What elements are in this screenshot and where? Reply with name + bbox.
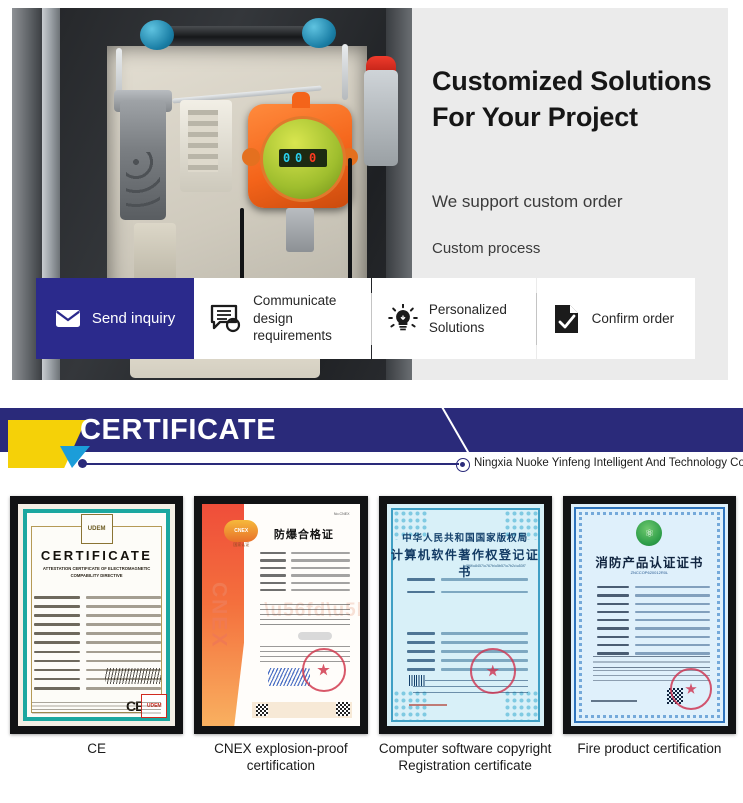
certificate-captions: CE CNEX explosion-proof certification Co… [10, 740, 736, 775]
cnex-qr-code [336, 702, 350, 716]
certificate-card-software[interactable]: 中华人民共和国国家版权局 计算机软件著作权登记证书 \u8f6f\u8457\u… [379, 496, 552, 734]
chat-document-icon [210, 304, 242, 334]
detector-faceplate: 0 0 0 [260, 116, 346, 202]
send-inquiry-button[interactable]: Send inquiry [36, 278, 194, 359]
cnex-footer-logo [256, 704, 268, 716]
ce-subheading: ATTESTATION CERTIFICATE OF ELECTROMAGNET… [34, 566, 159, 579]
ce-field-row [34, 623, 161, 626]
fire-field-row [597, 586, 710, 588]
certificate-card-fire[interactable]: ⚛ 消防产品认证证书 ZNCCOP620012R0L [563, 496, 736, 734]
fire-field-row [597, 611, 710, 613]
certificate-image-software: 中华人民共和国国家版权局 计算机软件著作权登记证书 \u8f6f\u8457\u… [387, 504, 544, 726]
caption-software: Computer software copyright Registration… [379, 740, 552, 775]
hero-subtitle: We support custom order [432, 192, 623, 212]
envelope-icon [55, 309, 81, 328]
ce-field-row [34, 687, 161, 690]
process-step-communicate[interactable]: Communicate design requirements [194, 278, 371, 359]
certificate-card-ce[interactable]: UDEM CERTIFICATE ATTESTATION CERTIFICATE… [10, 496, 183, 734]
cnex-field-rows [260, 552, 349, 596]
cnex-paragraph [260, 604, 349, 626]
fire-emblem-icon: ⚛ [636, 520, 662, 546]
ce-field-row [34, 651, 161, 654]
ce-field-row [34, 596, 161, 599]
software-field-row [407, 591, 528, 594]
cnex-field-row [260, 567, 349, 569]
corner-ornament-icon [504, 690, 538, 720]
ce-field-row [34, 605, 161, 608]
certificate-card-cnex[interactable]: CNEX CNEX 国家认证 No.CNEX 防爆合格证 \u56fd\u5bb… [194, 496, 367, 734]
software-field-row [407, 650, 528, 653]
ce-heading: CERTIFICATE [18, 548, 175, 563]
software-field-row [407, 578, 528, 581]
caption-ce: CE [10, 740, 183, 775]
process-step-confirm-label: Confirm order [592, 310, 675, 328]
udem-logo-icon: UDEM [81, 514, 113, 544]
document-check-icon [553, 303, 581, 335]
banner-title: CERTIFICATE [80, 414, 276, 447]
blue-valve-left [140, 20, 174, 50]
send-inquiry-label: Send inquiry [92, 309, 175, 329]
software-field-rows [407, 578, 528, 603]
side-box [134, 223, 176, 281]
detector-stem [286, 208, 314, 252]
hero-section: 0 0 0 Customized Solutions For Your Proj… [0, 0, 743, 381]
certificate-gallery: UDEM CERTIFICATE ATTESTATION CERTIFICATE… [10, 496, 736, 734]
software-red-stamp [470, 648, 516, 694]
cnex-field-row [260, 589, 349, 591]
ce-field-row [34, 614, 161, 617]
cnex-logo-icon: CNEX [224, 520, 258, 542]
certificate-image-cnex: CNEX CNEX 国家认证 No.CNEX 防爆合格证 \u56fd\u5bb… [202, 504, 359, 726]
fire-heading: 消防产品认证证书 [571, 552, 728, 571]
detector-display-value: 0 [309, 151, 316, 165]
fire-field-row [597, 603, 710, 605]
alarm-beacon-body [364, 70, 398, 166]
ce-field-row [34, 632, 161, 635]
lightbulb-icon [388, 304, 418, 334]
certificate-banner: CERTIFICATE Ningxia Nuoke Yinfeng Intell… [0, 408, 743, 470]
fire-field-row [597, 619, 710, 621]
fire-field-rows [597, 586, 710, 661]
process-step-personalized[interactable]: Personalized Solutions [372, 278, 536, 359]
detector-display: 0 0 0 [279, 149, 327, 167]
cnex-logo-subtext: 国家认证 [224, 542, 258, 548]
fire-field-row [597, 594, 710, 596]
cnex-field-row [260, 582, 349, 584]
cnex-field-row [260, 574, 349, 576]
fire-org-line [591, 700, 637, 702]
air-filter-unit [120, 100, 166, 220]
fire-paragraph [593, 656, 710, 668]
certificate-image-fire: ⚛ 消防产品认证证书 ZNCCOP620012R0L [571, 504, 728, 726]
process-step-communicate-label: Communicate design requirements [253, 292, 371, 345]
tube-right [342, 44, 348, 100]
fire-field-row [597, 636, 710, 638]
hero-title: Customized Solutions For Your Project [432, 64, 712, 135]
caption-fire: Fire product certification [563, 740, 736, 775]
cnex-heading: 防爆合格证 [258, 526, 349, 542]
cnex-side-text: CNEX [206, 582, 230, 648]
process-step-confirm[interactable]: Confirm order [537, 278, 695, 359]
fire-cert-number: ZNCCOP620012R0L [571, 570, 728, 575]
caption-cnex: CNEX explosion-proof certification [194, 740, 367, 775]
fire-field-row [597, 644, 710, 646]
banner-rule [82, 463, 459, 465]
detector-lug-left [242, 148, 260, 166]
software-barcode [409, 675, 425, 686]
software-date-line [409, 704, 447, 706]
fire-field-row [597, 652, 710, 654]
fire-red-stamp [670, 668, 712, 710]
ce-field-row [34, 660, 161, 663]
cnex-doc-number: No.CNEX [334, 512, 350, 516]
ce-fine-print [32, 702, 161, 716]
banner-diagonal-slash [440, 408, 476, 452]
software-heading-main: 计算机软件著作权登记证书 [387, 546, 544, 580]
gas-detector: 0 0 0 [248, 104, 352, 208]
ce-signature [105, 668, 161, 684]
ce-field-row [34, 641, 161, 644]
hero-caption: Custom process [432, 240, 540, 257]
cnex-seal-box [298, 632, 332, 640]
middle-module [180, 100, 232, 192]
target-icon [456, 458, 470, 472]
cnex-field-row [260, 559, 349, 561]
top-pipe [162, 26, 322, 46]
software-field-row [407, 632, 528, 635]
detector-handle [292, 92, 310, 108]
software-heading-top: 中华人民共和国国家版权局 [387, 530, 544, 544]
certificate-image-ce: UDEM CERTIFICATE ATTESTATION CERTIFICATE… [18, 504, 175, 726]
software-field-row [407, 641, 528, 644]
blue-valve-right [302, 18, 336, 48]
cnex-red-stamp [302, 648, 346, 692]
process-strip: Send inquiry Communicate design requirem… [36, 278, 695, 359]
process-step-personalized-label: Personalized Solutions [429, 301, 536, 337]
fire-field-row [597, 627, 710, 629]
banner-company-name: Ningxia Nuoke Yinfeng Intelligent And Te… [474, 457, 743, 469]
software-doc-number: \u8f6f\u8457\u767b\u5b57\u7b2c\u53f7 [463, 564, 526, 568]
cnex-field-row [260, 552, 349, 554]
